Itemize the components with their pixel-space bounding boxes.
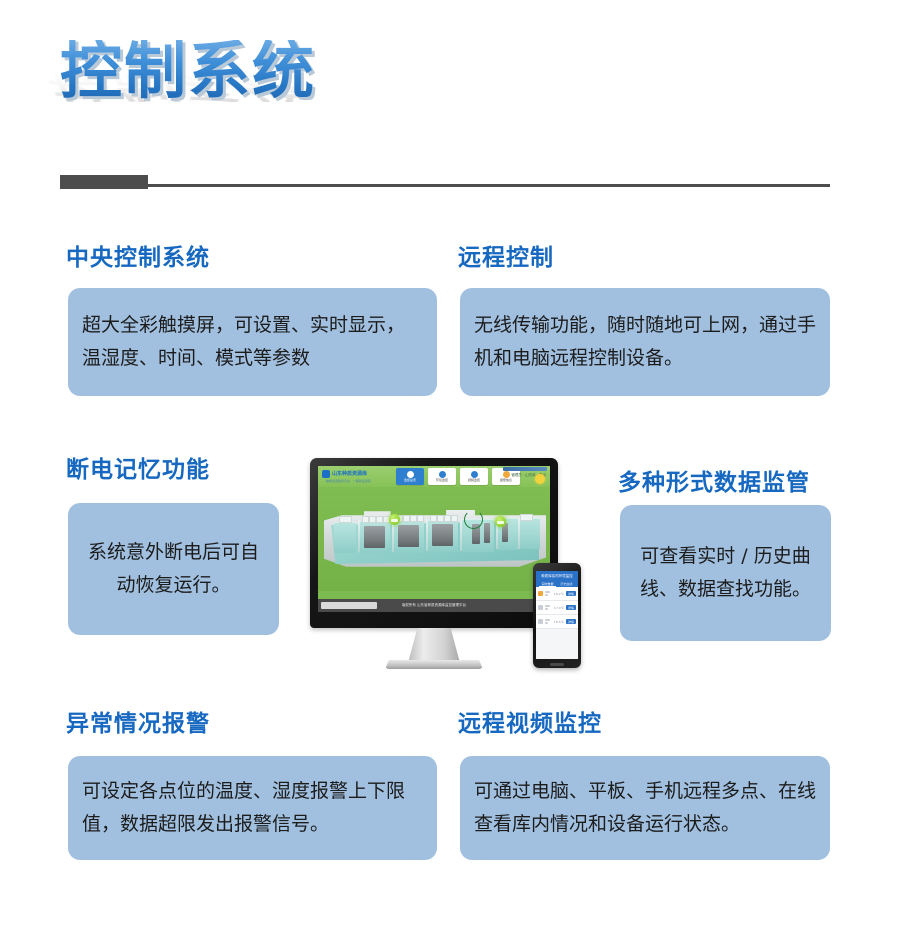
nav-button-environment[interactable]: 环境监控 xyxy=(428,468,456,485)
feature-box-abnormal-alarm: 可设定各点位的温度、湿度报警上下限值，数据超限发出报警信号。 xyxy=(68,756,437,860)
smartphone: 种质库实时环境监控 实时数据 历史曲线 18.2℃ 详情 xyxy=(533,563,581,668)
room-partition xyxy=(460,519,462,551)
control-panel xyxy=(339,516,352,523)
feature-box-power-off-memory: 系统意外断电后可自动恢复运行。 xyxy=(68,503,279,635)
control-panel xyxy=(369,516,376,523)
phone-list-item-button[interactable]: 详情 xyxy=(566,605,576,610)
storage-unit xyxy=(432,524,453,546)
text-line xyxy=(545,608,548,610)
phone-list-item-text xyxy=(545,591,552,596)
feature-text-remote-control: 无线传输功能，随时随地可上网，通过手机和电脑远程控制设备。 xyxy=(474,309,816,376)
feature-heading-power-off-memory: 断电记忆功能 xyxy=(66,450,210,484)
software-logo: 山东种质资源库 xyxy=(322,470,367,478)
sensor-node-icon xyxy=(495,516,506,527)
monitor-screen: 山东种质资源库 · 种质资源监管平台 · 一期建设项目 · 监控总览 环境监控 … xyxy=(318,466,550,612)
feature-text-data-supervision: 可查看实时 / 历史曲线、数据查找功能。 xyxy=(634,540,817,607)
feature-heading-abnormal-alarm: 异常情况报警 xyxy=(66,704,210,738)
control-panel xyxy=(451,515,458,522)
monitor-stand-base xyxy=(385,660,483,669)
storage-unit xyxy=(484,523,490,543)
phone-list-item-value: 18.2℃ xyxy=(554,592,564,596)
software-toolbar: 山东种质资源库 · 种质资源监管平台 · 一期建设项目 · 监控总览 环境监控 … xyxy=(318,466,550,487)
control-panel xyxy=(376,516,383,523)
video-camera-icon xyxy=(471,471,478,478)
warehouse-3d-scene xyxy=(324,506,546,578)
phone-list-item-button[interactable]: 详情 xyxy=(566,619,576,624)
feature-heading-data-supervision: 多种形式数据监管 xyxy=(618,463,810,497)
divider-accent-block xyxy=(60,175,148,189)
overview-icon xyxy=(407,471,414,478)
text-line xyxy=(545,605,550,607)
status-dot-icon xyxy=(538,619,543,624)
control-panel xyxy=(417,515,424,522)
feature-box-remote-video: 可通过电脑、平板、手机远程多点、在线查看库内情况和设备运行状态。 xyxy=(460,756,830,860)
text-line xyxy=(545,619,550,621)
storage-unit xyxy=(364,526,385,548)
phone-list-item[interactable]: 17.9℃ 详情 xyxy=(536,601,578,615)
device-illustration: 山东种质资源库 · 种质资源监管平台 · 一期建设项目 · 监控总览 环境监控 … xyxy=(305,450,595,680)
phone-list-item-text xyxy=(545,619,552,624)
feature-box-remote-control: 无线传输功能，随时随地可上网，通过手机和电脑远程控制设备。 xyxy=(460,288,830,396)
phone-tab-realtime[interactable]: 实时数据 xyxy=(539,582,555,587)
software-footer: 版权所有 山东省种质资源库监控管理平台 xyxy=(318,599,550,612)
phone-list-item-value: 17.9℃ xyxy=(554,606,564,610)
feature-heading-central-control: 中央控制系统 xyxy=(66,238,210,272)
control-panel xyxy=(520,514,533,521)
nav-button-video[interactable]: 视频监控 xyxy=(460,468,488,485)
page-title: 控制系统 xyxy=(60,40,460,102)
feature-text-central-control: 超大全彩触摸屏，可设置、实时显示，温湿度、时间、模式等参数 xyxy=(82,309,423,376)
logo-subtitle: · 种质资源监管平台 · 一期建设项目 · xyxy=(324,479,373,483)
phone-screen: 种质库实时环境监控 实时数据 历史曲线 18.2℃ 详情 xyxy=(536,571,578,659)
nav-button-label: 报警信息 xyxy=(500,479,512,482)
feature-text-abnormal-alarm: 可设定各点位的温度、湿度报警上下限值，数据超限发出报警信号。 xyxy=(82,775,423,842)
warehouse-room xyxy=(334,522,356,553)
logo-text: 山东种质资源库 xyxy=(332,472,367,477)
phone-list-item[interactable]: 18.5℃ 详情 xyxy=(536,615,578,629)
monitor-stand-neck xyxy=(408,628,460,663)
desktop-monitor: 山东种质资源库 · 种质资源监管平台 · 一期建设项目 · 监控总览 环境监控 … xyxy=(310,458,558,628)
nav-button-overview[interactable]: 监控总览 xyxy=(396,468,424,485)
control-panel xyxy=(444,515,451,522)
phone-list-item-value: 18.5℃ xyxy=(554,620,564,624)
status-dot-icon xyxy=(538,605,543,610)
feature-box-central-control: 超大全彩触摸屏，可设置、实时显示，温湿度、时间、模式等参数 xyxy=(68,288,437,396)
phone-home-indicator xyxy=(550,663,564,666)
control-panel xyxy=(437,515,444,522)
control-panel xyxy=(362,516,369,523)
footer-search-field[interactable] xyxy=(321,602,377,609)
phone-app-header: 种质库实时环境监控 xyxy=(536,571,578,581)
text-line xyxy=(545,591,550,593)
page-title-block: 控制系统 控制系统 控制系统 xyxy=(60,40,460,170)
weather-sun-icon xyxy=(535,474,545,484)
section-divider xyxy=(60,175,830,189)
feature-text-power-off-memory: 系统意外断电后可自动恢复运行。 xyxy=(82,536,265,603)
room-partition xyxy=(518,518,520,549)
divider-line xyxy=(60,184,830,187)
monitoring-gauge xyxy=(464,510,483,529)
environment-icon xyxy=(439,471,446,478)
warehouse-room xyxy=(520,518,540,549)
control-panel xyxy=(430,515,437,522)
logo-mark-icon xyxy=(322,470,330,478)
text-line xyxy=(545,594,548,596)
feature-heading-remote-video: 远程视频监控 xyxy=(458,704,602,738)
room-partition xyxy=(358,520,360,552)
control-panel xyxy=(403,515,410,522)
sensor-node-icon xyxy=(389,514,400,525)
room-partition xyxy=(426,519,428,551)
nav-button-label: 视频监控 xyxy=(468,479,480,482)
feature-heading-remote-control: 远程控制 xyxy=(458,238,554,272)
alarm-bell-icon xyxy=(503,471,510,478)
feature-text-remote-video: 可通过电脑、平板、手机远程多点、在线查看库内情况和设备运行状态。 xyxy=(474,775,816,842)
phone-app-title: 种质库实时环境监控 xyxy=(541,574,573,579)
feature-box-data-supervision: 可查看实时 / 历史曲线、数据查找功能。 xyxy=(620,505,831,641)
phone-list-item-button[interactable]: 详情 xyxy=(566,591,576,596)
status-dot-icon xyxy=(538,591,543,596)
window-controls[interactable] xyxy=(503,467,547,471)
text-line xyxy=(545,622,548,624)
phone-list-item[interactable]: 18.2℃ 详情 xyxy=(536,587,578,601)
phone-tab-history[interactable]: 历史曲线 xyxy=(559,582,575,586)
nav-button-label: 监控总览 xyxy=(404,479,416,482)
control-panel xyxy=(410,515,417,522)
footer-copyright-text: 版权所有 山东省种质资源库监控管理平台 xyxy=(402,603,466,608)
storage-unit xyxy=(398,525,419,547)
nav-button-label: 环境监控 xyxy=(436,479,448,482)
phone-list-item-text xyxy=(545,605,552,610)
